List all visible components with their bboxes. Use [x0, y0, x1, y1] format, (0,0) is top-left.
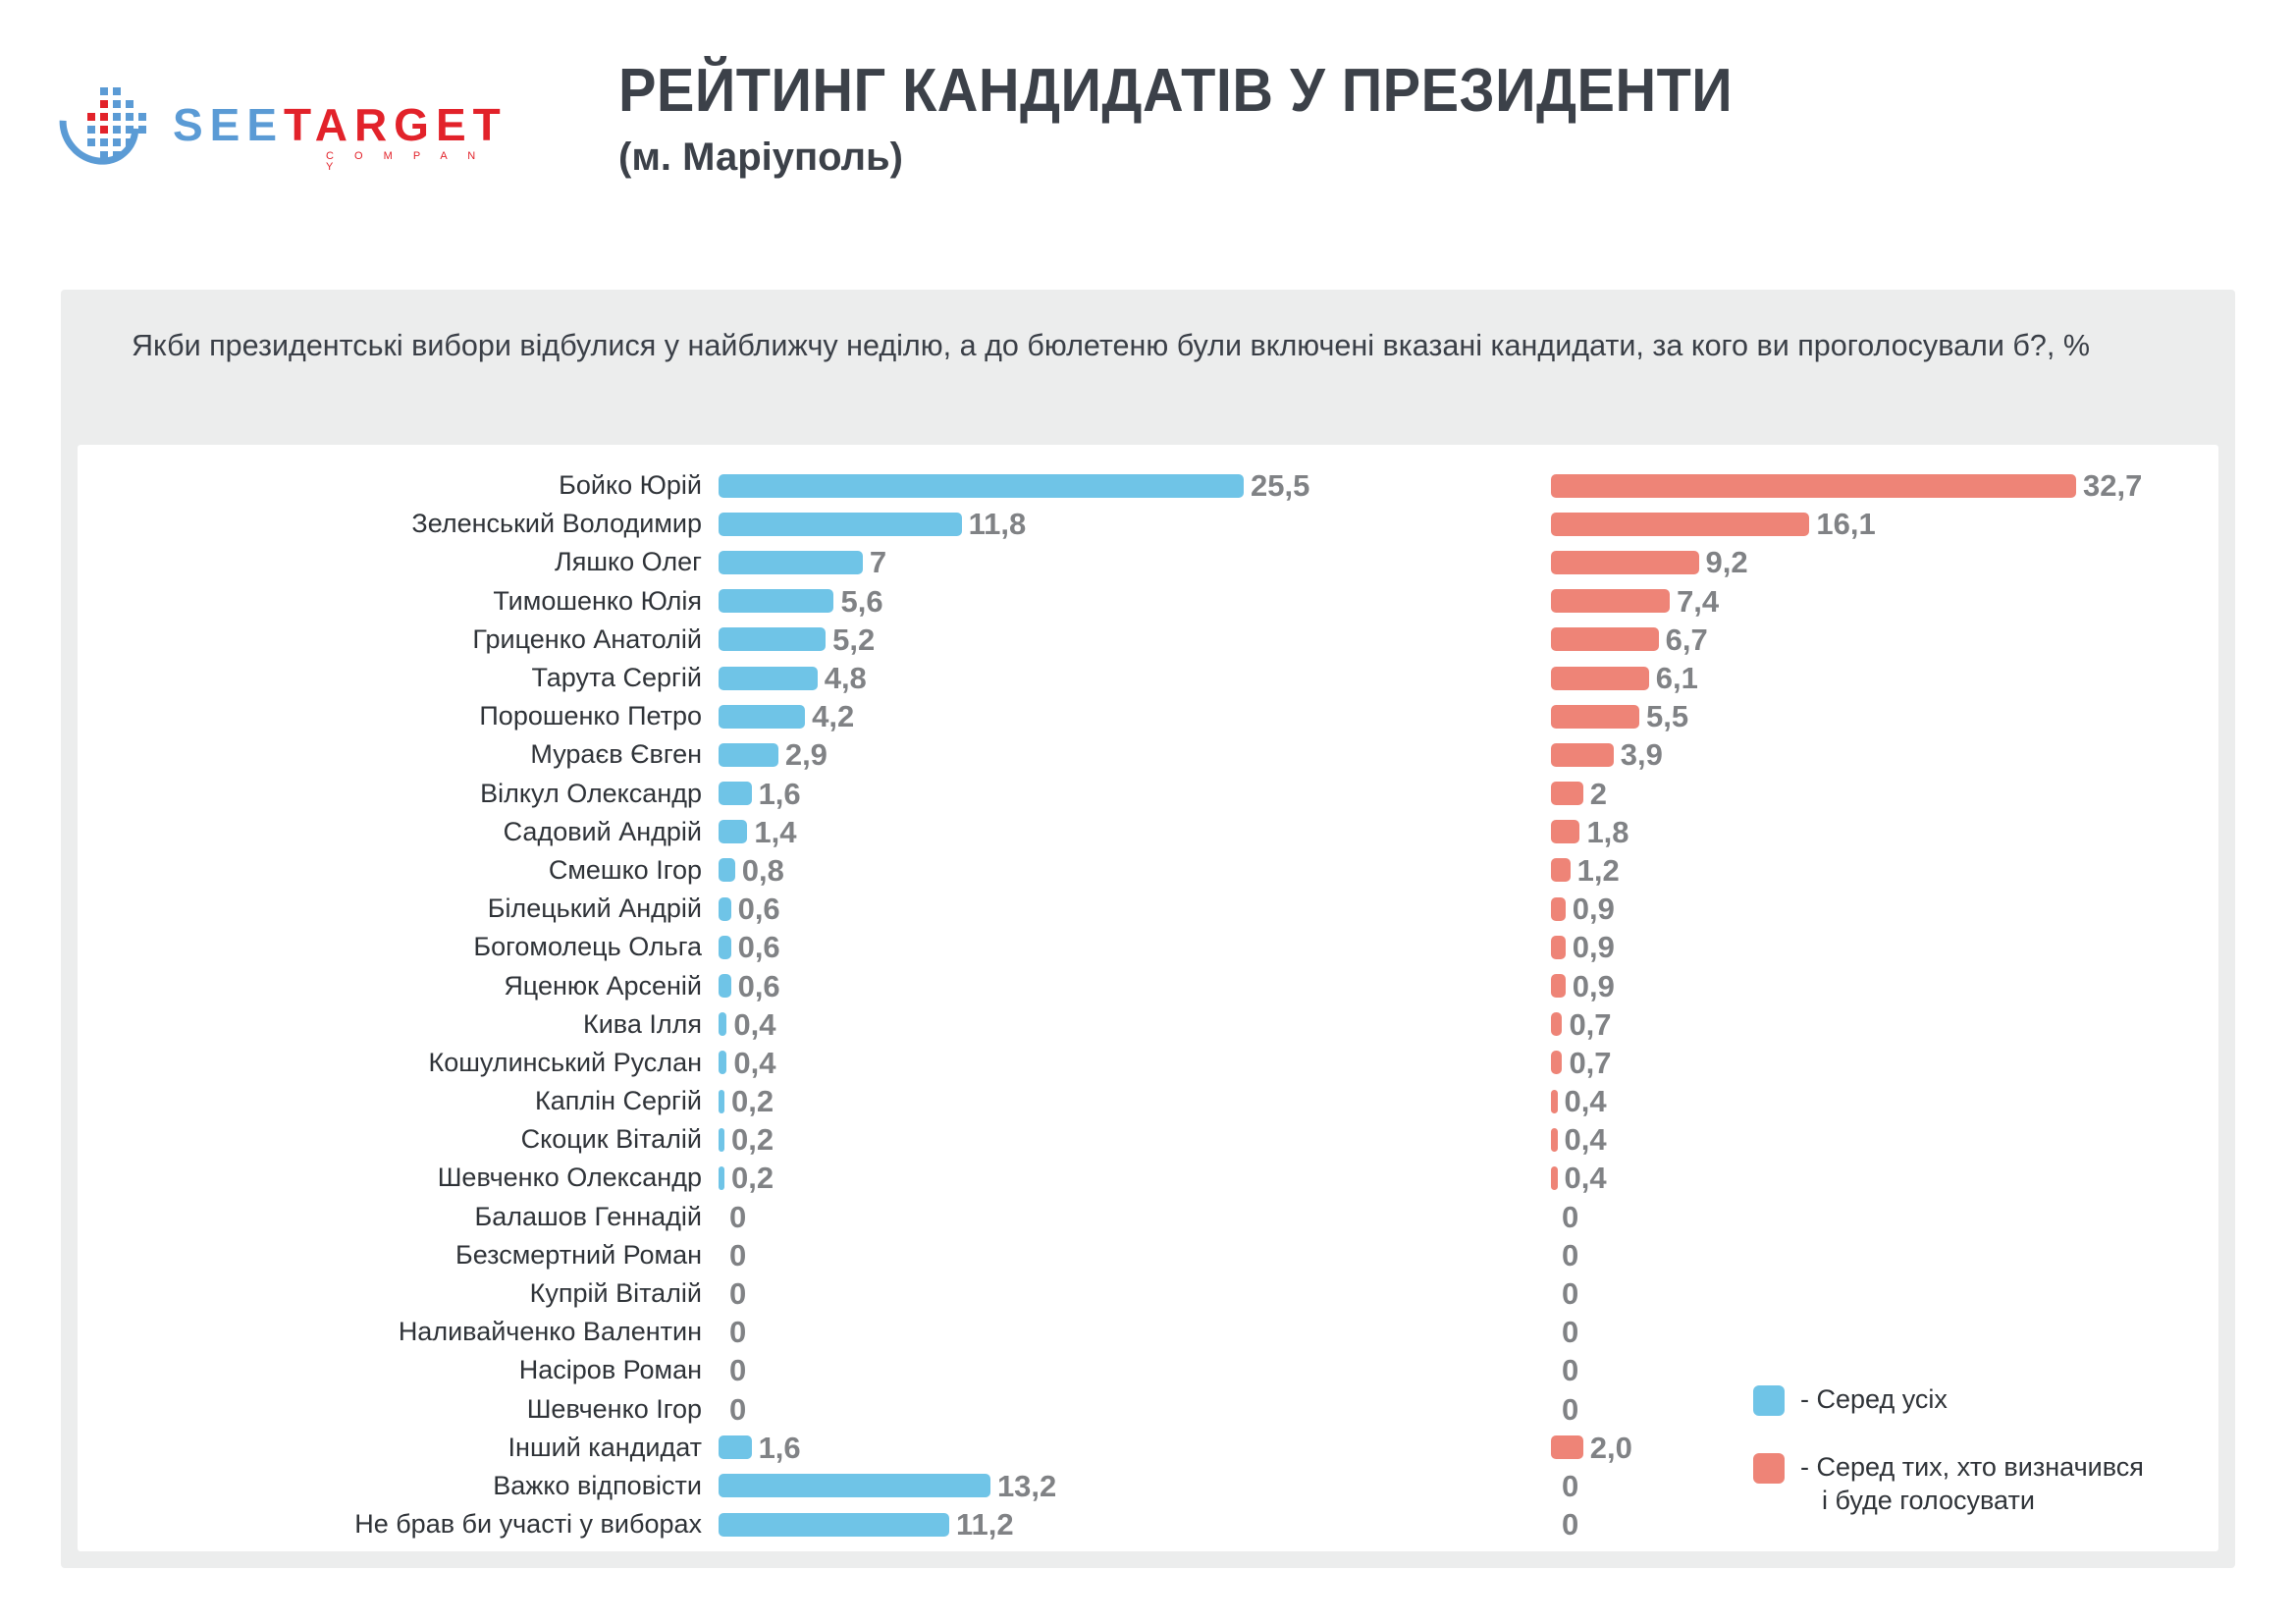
page-title: РЕЙТИНГ КАНДИДАТІВ У ПРЕЗИДЕНТИ [618, 61, 1733, 122]
series-all-cell: 25,5 [719, 470, 1539, 501]
candidate-label: Шевченко Олександр [78, 1163, 719, 1193]
series-all-cell: 0,2 [719, 1124, 1539, 1155]
bar-value-decided: 1,8 [1586, 817, 1629, 847]
bar-series-all [719, 513, 962, 536]
series-decided-cell: 7,4 [1551, 586, 2238, 617]
bar-series-all [719, 1513, 949, 1537]
bar-row: Безсмертний Роман00 [78, 1236, 2218, 1274]
bar-value-decided: 0 [1562, 1278, 1578, 1309]
bar-row: Вілкул Олександр1,62 [78, 775, 2218, 813]
bar-value-all: 0 [729, 1278, 746, 1309]
legend-item-decided: - Серед тих, хто визначився і буде голос… [1753, 1450, 2175, 1518]
candidate-label: Яценюк Арсеній [78, 971, 719, 1001]
logo-see-text: SEE [173, 99, 284, 150]
bar-value-decided: 0 [1562, 1394, 1578, 1425]
series-decided-cell: 6,1 [1551, 663, 2238, 693]
candidate-label: Не брав би участі у виборах [78, 1509, 719, 1540]
candidate-label: Скоцик Віталій [78, 1124, 719, 1155]
bar-series-all [719, 858, 735, 882]
bar-row: Смешко Ігор0,81,2 [78, 851, 2218, 890]
series-all-cell: 4,2 [719, 701, 1539, 731]
series-all-cell: 0,4 [719, 1009, 1539, 1040]
bar-value-all: 11,8 [969, 509, 1027, 539]
series-decided-cell: 1,8 [1551, 817, 2238, 847]
bar-series-all [719, 820, 747, 843]
bar-series-decided [1551, 627, 1659, 651]
bar-row: Тарута Сергій4,86,1 [78, 659, 2218, 697]
bar-row: Наливайченко Валентин00 [78, 1313, 2218, 1351]
bar-value-decided: 0,9 [1573, 971, 1615, 1001]
series-all-cell: 5,6 [719, 586, 1539, 617]
chart-panel: Якби президентські вибори відбулися у на… [61, 290, 2235, 1568]
bar-value-all: 4,8 [825, 663, 867, 693]
page-subtitle: (м. Маріуполь) [618, 137, 1817, 177]
bar-value-decided: 32,7 [2083, 470, 2142, 501]
bar-row: Ляшко Олег79,2 [78, 543, 2218, 581]
bar-value-decided: 0,9 [1573, 932, 1615, 962]
bar-series-all [719, 936, 731, 959]
series-decided-cell: 0,9 [1551, 971, 2238, 1001]
series-decided-cell: 0,4 [1551, 1163, 2238, 1193]
series-decided-cell: 0 [1551, 1355, 2238, 1385]
chart-canvas: Бойко Юрій25,532,7Зеленський Володимир11… [78, 445, 2218, 1551]
bar-value-all: 0,6 [738, 893, 780, 924]
series-all-cell: 0,8 [719, 855, 1539, 886]
series-all-cell: 0,6 [719, 932, 1539, 962]
bar-row: Порошенко Петро4,25,5 [78, 697, 2218, 735]
series-all-cell: 11,2 [719, 1509, 1539, 1540]
series-decided-cell: 0,9 [1551, 932, 2238, 962]
page-header: SEETARGET C O M P A N Y РЕЙТИНГ КАНДИДАТ… [0, 0, 2296, 280]
bar-value-decided: 0 [1562, 1317, 1578, 1347]
bar-value-all: 0 [729, 1317, 746, 1347]
series-all-cell: 0 [719, 1317, 1539, 1347]
candidate-label: Богомолець Ольга [78, 932, 719, 962]
bar-value-decided: 0,4 [1565, 1163, 1607, 1193]
series-all-cell: 0 [719, 1202, 1539, 1232]
candidate-label: Шевченко Ігор [78, 1394, 719, 1425]
bar-value-all: 1,6 [759, 1433, 801, 1463]
series-all-cell: 2,9 [719, 739, 1539, 770]
bar-series-all [719, 1166, 724, 1190]
bar-value-decided: 0,7 [1569, 1009, 1611, 1040]
bar-value-all: 0,6 [738, 932, 780, 962]
bar-row: Кошулинський Руслан0,40,7 [78, 1044, 2218, 1082]
logo-wordmark: SEETARGET C O M P A N Y [173, 102, 507, 147]
series-all-cell: 0,6 [719, 893, 1539, 924]
series-all-cell: 7 [719, 547, 1539, 577]
logo-target-text: TARGET [284, 99, 507, 150]
bar-value-all: 1,6 [759, 779, 801, 809]
candidate-label: Тарута Сергій [78, 663, 719, 693]
series-decided-cell: 0 [1551, 1240, 2238, 1271]
legend-label-all: - Серед усіх [1800, 1382, 1948, 1417]
series-all-cell: 5,2 [719, 624, 1539, 655]
logo-arc-icon [43, 69, 155, 182]
series-decided-cell: 5,5 [1551, 701, 2238, 731]
bar-value-all: 5,2 [832, 624, 875, 655]
bar-series-all [719, 551, 863, 574]
bar-value-decided: 5,5 [1646, 701, 1688, 731]
bar-value-all: 7 [870, 547, 886, 577]
seetarget-logo: SEETARGET C O M P A N Y [61, 81, 552, 169]
bar-series-all [719, 667, 818, 690]
legend-swatch-blue-icon [1753, 1385, 1785, 1416]
series-decided-cell: 0,4 [1551, 1124, 2238, 1155]
candidate-label: Важко відповісти [78, 1471, 719, 1501]
survey-question: Якби президентські вибори відбулися у на… [132, 324, 2123, 367]
bar-value-all: 13,2 [997, 1471, 1056, 1501]
candidate-label: Безсмертний Роман [78, 1240, 719, 1271]
bar-row: Бойко Юрій25,532,7 [78, 466, 2218, 505]
bar-series-decided [1551, 1435, 1583, 1459]
series-decided-cell: 0,4 [1551, 1086, 2238, 1116]
series-all-cell: 1,6 [719, 779, 1539, 809]
series-all-cell: 4,8 [719, 663, 1539, 693]
bar-series-decided [1551, 1051, 1562, 1074]
series-all-cell: 1,4 [719, 817, 1539, 847]
series-decided-cell: 1,2 [1551, 855, 2238, 886]
series-decided-cell: 6,7 [1551, 624, 2238, 655]
candidate-label: Зеленський Володимир [78, 509, 719, 539]
bar-series-decided [1551, 1012, 1562, 1036]
bar-value-decided: 9,2 [1706, 547, 1748, 577]
bar-value-decided: 6,1 [1656, 663, 1698, 693]
bar-value-decided: 0,4 [1565, 1124, 1607, 1155]
bar-value-all: 11,2 [956, 1509, 1014, 1540]
bar-series-all [719, 1474, 990, 1497]
bar-value-all: 0,8 [742, 855, 784, 886]
bar-value-decided: 0 [1562, 1471, 1578, 1501]
bar-value-decided: 0,7 [1569, 1048, 1611, 1078]
candidate-label: Бойко Юрій [78, 470, 719, 501]
bar-series-decided [1551, 1128, 1558, 1152]
bar-series-decided [1551, 513, 1809, 536]
series-all-cell: 0 [719, 1278, 1539, 1309]
bar-series-decided [1551, 551, 1699, 574]
bar-series-decided [1551, 858, 1571, 882]
series-all-cell: 0,4 [719, 1048, 1539, 1078]
bar-row: Купрій Віталій00 [78, 1274, 2218, 1313]
series-all-cell: 0,2 [719, 1163, 1539, 1193]
bar-value-decided: 0 [1562, 1240, 1578, 1271]
bar-row: Шевченко Олександр0,20,4 [78, 1159, 2218, 1197]
bar-value-all: 0,2 [731, 1163, 774, 1193]
bar-series-all [719, 589, 833, 613]
legend-label-decided-line1: - Серед тих, хто визначився [1800, 1452, 2144, 1482]
bar-series-all [719, 627, 826, 651]
series-decided-cell: 16,1 [1551, 509, 2238, 539]
bar-series-decided [1551, 820, 1579, 843]
bar-series-decided [1551, 782, 1583, 805]
bar-row: Скоцик Віталій0,20,4 [78, 1120, 2218, 1159]
bar-value-all: 0 [729, 1240, 746, 1271]
series-decided-cell: 3,9 [1551, 739, 2238, 770]
candidate-label: Тимошенко Юлія [78, 586, 719, 617]
bar-row: Гриценко Анатолій5,26,7 [78, 621, 2218, 659]
series-decided-cell: 32,7 [1551, 470, 2238, 501]
candidate-label: Каплін Сергій [78, 1086, 719, 1116]
bar-value-all: 4,2 [812, 701, 854, 731]
bar-value-all: 1,4 [754, 817, 796, 847]
legend-label-decided: - Серед тих, хто визначився і буде голос… [1800, 1450, 2144, 1518]
bar-value-all: 0,2 [731, 1086, 774, 1116]
bar-series-decided [1551, 589, 1670, 613]
legend-label-decided-line2: і буде голосувати [1800, 1484, 2144, 1518]
bar-row: Кива Ілля0,40,7 [78, 1005, 2218, 1044]
legend-item-all: - Серед усіх [1753, 1382, 2175, 1417]
bar-series-decided [1551, 667, 1649, 690]
candidate-label: Купрій Віталій [78, 1278, 719, 1309]
series-decided-cell: 2 [1551, 779, 2238, 809]
logo-company-tagline: C O M P A N Y [326, 151, 507, 173]
logo-mark-icon [61, 81, 167, 168]
candidate-label: Порошенко Петро [78, 701, 719, 731]
bar-value-all: 25,5 [1251, 470, 1309, 501]
bar-series-all [719, 897, 731, 921]
candidate-label: Гриценко Анатолій [78, 624, 719, 655]
bar-value-decided: 2 [1590, 779, 1607, 809]
bar-value-all: 2,9 [785, 739, 828, 770]
series-all-cell: 0,6 [719, 971, 1539, 1001]
series-all-cell: 0 [719, 1394, 1539, 1425]
legend-swatch-red-icon [1753, 1453, 1785, 1484]
series-decided-cell: 0 [1551, 1317, 2238, 1347]
bar-series-decided [1551, 1166, 1558, 1190]
series-decided-cell: 9,2 [1551, 547, 2238, 577]
series-decided-cell: 0,7 [1551, 1048, 2238, 1078]
bar-series-all [719, 743, 778, 767]
bar-series-all [719, 1090, 724, 1113]
bar-value-decided: 7,4 [1677, 586, 1719, 617]
bar-value-all: 0,4 [733, 1009, 775, 1040]
candidate-label: Садовий Андрій [78, 817, 719, 847]
series-all-cell: 0 [719, 1355, 1539, 1385]
candidate-label: Інший кандидат [78, 1433, 719, 1463]
bar-value-decided: 0 [1562, 1202, 1578, 1232]
bar-row: Богомолець Ольга0,60,9 [78, 928, 2218, 966]
series-all-cell: 13,2 [719, 1471, 1539, 1501]
series-decided-cell: 0,7 [1551, 1009, 2238, 1040]
series-all-cell: 0 [719, 1240, 1539, 1271]
series-decided-cell: 0 [1551, 1202, 2238, 1232]
bar-series-decided [1551, 936, 1566, 959]
candidate-label: Мураєв Євген [78, 739, 719, 770]
bar-series-decided [1551, 897, 1566, 921]
chart-legend: - Серед усіх - Серед тих, хто визначився… [1753, 1382, 2175, 1518]
bar-value-all: 5,6 [840, 586, 882, 617]
bar-value-all: 0,6 [738, 971, 780, 1001]
bar-value-all: 0 [729, 1355, 746, 1385]
bar-value-decided: 0,4 [1565, 1086, 1607, 1116]
bar-value-all: 0 [729, 1202, 746, 1232]
bar-row: Зеленський Володимир11,816,1 [78, 505, 2218, 543]
bar-value-decided: 6,7 [1666, 624, 1708, 655]
series-decided-cell: 0 [1551, 1278, 2238, 1309]
bar-series-all [719, 974, 731, 998]
bar-value-decided: 0 [1562, 1509, 1578, 1540]
series-all-cell: 11,8 [719, 509, 1539, 539]
candidate-label: Наливайченко Валентин [78, 1317, 719, 1347]
candidate-label: Насіров Роман [78, 1355, 719, 1385]
bar-series-all [719, 1128, 724, 1152]
bar-series-all [719, 474, 1244, 498]
candidate-label: Ляшко Олег [78, 547, 719, 577]
bar-row: Яценюк Арсеній0,60,9 [78, 966, 2218, 1004]
candidate-label: Кошулинський Руслан [78, 1048, 719, 1078]
bar-row: Каплін Сергій0,20,4 [78, 1082, 2218, 1120]
series-decided-cell: 0,9 [1551, 893, 2238, 924]
bar-series-decided [1551, 1090, 1558, 1113]
candidate-label: Кива Ілля [78, 1009, 719, 1040]
bar-value-decided: 1,2 [1577, 855, 1620, 886]
bar-series-all [719, 1051, 726, 1074]
bar-row: Білецький Андрій0,60,9 [78, 890, 2218, 928]
bar-value-decided: 3,9 [1621, 739, 1663, 770]
candidate-label: Балашов Геннадій [78, 1202, 719, 1232]
bar-series-all [719, 705, 805, 729]
series-all-cell: 1,6 [719, 1433, 1539, 1463]
bar-series-decided [1551, 743, 1614, 767]
bar-series-decided [1551, 705, 1639, 729]
bar-row: Балашов Геннадій00 [78, 1198, 2218, 1236]
bar-value-decided: 0 [1562, 1355, 1578, 1385]
bar-series-all [719, 1012, 726, 1036]
bar-series-decided [1551, 974, 1566, 998]
candidate-label: Білецький Андрій [78, 893, 719, 924]
bar-series-decided [1551, 474, 2076, 498]
series-all-cell: 0,2 [719, 1086, 1539, 1116]
bar-series-all [719, 1435, 752, 1459]
candidate-label: Вілкул Олександр [78, 779, 719, 809]
candidate-label: Смешко Ігор [78, 855, 719, 886]
bar-value-decided: 2,0 [1590, 1433, 1632, 1463]
bar-value-all: 0 [729, 1394, 746, 1425]
bar-value-decided: 0,9 [1573, 893, 1615, 924]
title-block: РЕЙТИНГ КАНДИДАТІВ У ПРЕЗИДЕНТИ (м. Марі… [618, 61, 1817, 177]
bar-value-all: 0,2 [731, 1124, 774, 1155]
bar-value-all: 0,4 [733, 1048, 775, 1078]
bar-row: Садовий Андрій1,41,8 [78, 813, 2218, 851]
bar-row: Тимошенко Юлія5,67,4 [78, 582, 2218, 621]
bar-value-decided: 16,1 [1816, 509, 1875, 539]
bar-series-all [719, 782, 752, 805]
bar-row: Мураєв Євген2,93,9 [78, 735, 2218, 774]
